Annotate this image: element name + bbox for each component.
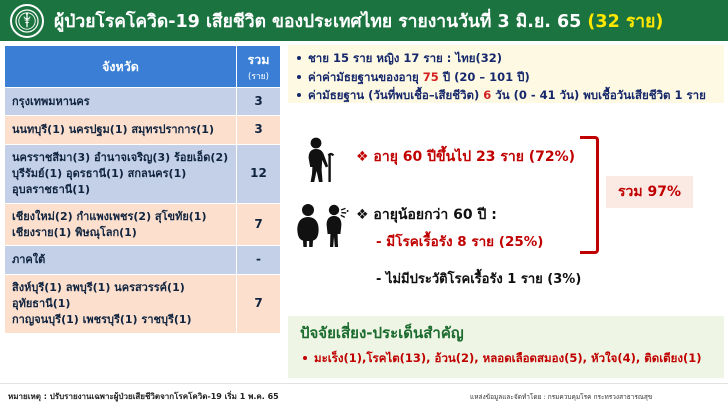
footer-divider: [0, 383, 728, 384]
column-header-total-label: รวม: [248, 52, 270, 67]
bullet-text-pre: ชาย 15 ราย หญิง 17 ราย : ไทย(32): [308, 51, 502, 65]
page-title-count: (32 ราย): [587, 12, 663, 32]
table-body: กรุงเทพมหานคร 3 นนทบุรี(1) นครปฐม(1) สมุ…: [5, 88, 281, 334]
no-chronic-disease-line: - ไม่มีประวัติโรคเรื้อรัง 1 ราย (3%): [376, 268, 581, 289]
age-under-60-line: ❖ อายุน้อยกว่า 60 ปี :: [356, 204, 497, 226]
column-header-total: รวม (ราย): [237, 46, 281, 88]
age-60-plus-line: ❖ อายุ 60 ปีขึ้นไป 23 ราย (72%): [356, 146, 575, 168]
cell-provinces: สิงห์บุรี(1) ลพบุรี(1) นครสวรรค์(1) อุทั…: [5, 274, 237, 333]
total-percentage-badge: รวม 97%: [606, 176, 693, 208]
risk-factors-title: ปัจจัยเสี่ยง-ประเด็นสำคัญ: [300, 321, 724, 345]
risk-factors-list: มะเร็ง(1),โรคไต(13), อ้วน(2), หลอดเลือดส…: [300, 350, 724, 368]
column-header-province: จังหวัด: [5, 46, 237, 88]
infographic-page: ผู้ป่วยโรคโควิด-19 เสียชีวิต ของประเทศไท…: [0, 0, 728, 410]
table-row: นนทบุรี(1) นครปฐม(1) สมุทรปราการ(1) 3: [5, 116, 281, 144]
table-row: กรุงเทพมหานคร 3: [5, 88, 281, 116]
table-row: นครราชสีมา(3) อำนาจเจริญ(3) ร้อยเอ็ด(2)บ…: [5, 144, 281, 203]
footer-note-source: แหล่งข้อมูลและจัดทำโดย : กรมควบคุมโรค กร…: [470, 392, 652, 402]
chronic-disease-line: - มีโรคเรื้อรัง 8 ราย (25%): [376, 230, 543, 252]
summary-bullet-median-days: ค่ามัธยฐาน (วันที่พบเชื้อ–เสียชีวิต) 6 ว…: [308, 86, 724, 105]
cell-provinces: นครราชสีมา(3) อำนาจเจริญ(3) ร้อยเอ็ด(2)บ…: [5, 144, 237, 203]
obese-and-coughing-person-icon: [294, 203, 352, 253]
bullet-text-highlight: 75: [423, 70, 439, 84]
table-header-row: จังหวัด รวม (ราย): [5, 46, 281, 88]
ministry-of-public-health-emblem-icon: [10, 4, 44, 38]
cell-total: -: [237, 246, 281, 274]
summary-bullet-list: ชาย 15 ราย หญิง 17 ราย : ไทย(32) ค่าค่าม…: [288, 49, 724, 105]
cell-provinces: ภาคใต้: [5, 246, 237, 274]
cell-total: 7: [237, 203, 281, 246]
summary-panel: ชาย 15 ราย หญิง 17 ราย : ไทย(32) ค่าค่าม…: [288, 45, 724, 103]
summary-bullet-median-age: ค่าค่ามัธยฐานของอายุ 75 ปี (20 – 101 ปี): [308, 68, 724, 87]
age-breakdown-panel: ❖ อายุ 60 ปีขึ้นไป 23 ราย (72%) ❖ อายุน้…: [288, 108, 724, 308]
summary-bullet-sex-nationality: ชาย 15 ราย หญิง 17 ราย : ไทย(32): [308, 49, 724, 68]
column-header-province-label: จังหวัด: [102, 59, 139, 74]
page-header: ผู้ป่วยโรคโควิด-19 เสียชีวิต ของประเทศไท…: [0, 0, 728, 41]
bullet-text-post: วัน (0 - 41 วัน) พบเชื้อวันเสียชีวิต 1 ร…: [491, 88, 706, 102]
page-title: ผู้ป่วยโรคโควิด-19 เสียชีวิต ของประเทศไท…: [54, 7, 663, 35]
cell-provinces: นนทบุรี(1) นครปฐม(1) สมุทรปราการ(1): [5, 116, 237, 144]
table-row: สิงห์บุรี(1) ลพบุรี(1) นครสวรรค์(1) อุทั…: [5, 274, 281, 333]
cell-provinces: เชียงใหม่(2) กำแพงเพชร(2) สุโขทัย(1)เชีย…: [5, 203, 237, 246]
cell-total: 3: [237, 116, 281, 144]
page-title-main: ผู้ป่วยโรคโควิด-19 เสียชีวิต ของประเทศไท…: [54, 12, 581, 32]
column-header-total-unit: (ราย): [239, 69, 278, 83]
list-item: มะเร็ง(1),โรคไต(13), อ้วน(2), หลอดเลือดส…: [314, 350, 724, 368]
cell-total: 7: [237, 274, 281, 333]
cell-total: 12: [237, 144, 281, 203]
bullet-text-pre: ค่าค่ามัธยฐานของอายุ: [308, 70, 423, 84]
elderly-person-with-cane-icon: [300, 136, 340, 188]
bullet-text-post: ปี (20 – 101 ปี): [439, 70, 530, 84]
grouping-bracket: [580, 136, 599, 254]
bullet-text-pre: ค่ามัธยฐาน (วันที่พบเชื้อ–เสียชีวิต): [308, 88, 483, 102]
footer-note-left: หมายเหตุ : ปรับรายงานเฉพาะผู้ป่วยเสียชีว…: [8, 390, 279, 403]
province-deaths-table: จังหวัด รวม (ราย) กรุงเทพมหานคร 3 นนทบุร…: [4, 45, 281, 334]
cell-total: 3: [237, 88, 281, 116]
risk-factors-panel: ปัจจัยเสี่ยง-ประเด็นสำคัญ มะเร็ง(1),โรคไ…: [288, 316, 724, 378]
table-row: ภาคใต้ -: [5, 246, 281, 274]
cell-provinces: กรุงเทพมหานคร: [5, 88, 237, 116]
table-row: เชียงใหม่(2) กำแพงเพชร(2) สุโขทัย(1)เชีย…: [5, 203, 281, 246]
